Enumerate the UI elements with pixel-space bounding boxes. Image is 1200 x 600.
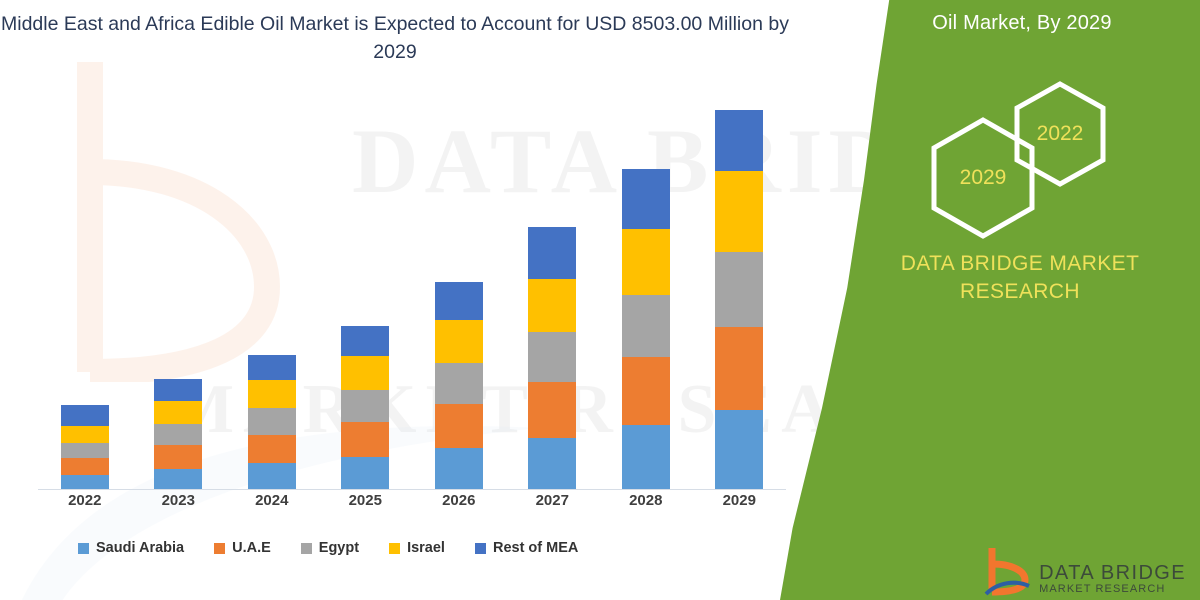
- bar-segment: [154, 445, 202, 468]
- legend-item[interactable]: Saudi Arabia: [78, 540, 184, 556]
- axis-baseline: [38, 489, 786, 490]
- x-axis-tick-label: 2023: [133, 492, 223, 509]
- legend-label: U.A.E: [232, 540, 271, 556]
- legend-item[interactable]: U.A.E: [214, 540, 271, 556]
- bar-column: [414, 282, 504, 489]
- bar-segment: [61, 443, 109, 458]
- x-axis-tick-label: 2027: [507, 492, 597, 509]
- x-axis-tick-label: 2029: [694, 492, 784, 509]
- bar-segment: [715, 171, 763, 252]
- bar-column: [40, 405, 130, 489]
- x-axis-tick-label: 2026: [414, 492, 504, 509]
- chart-area: DATA BRIDGE MARKET RESEARCH Middle East …: [0, 0, 880, 600]
- bar-segment: [154, 424, 202, 445]
- legend-label: Rest of MEA: [493, 540, 578, 556]
- bar-segment: [341, 457, 389, 489]
- bar-segment: [341, 326, 389, 356]
- legend-swatch-icon: [301, 543, 312, 554]
- stacked-bar: [341, 326, 389, 489]
- bar-segment: [248, 435, 296, 464]
- bar-segment: [154, 401, 202, 423]
- bar-segment: [715, 327, 763, 410]
- bar-series-container: [38, 110, 786, 489]
- chart-legend: Saudi ArabiaU.A.EEgyptIsraelRest of MEA: [78, 540, 778, 556]
- bar-segment: [622, 357, 670, 425]
- stacked-bar: [248, 355, 296, 489]
- bar-segment: [248, 408, 296, 435]
- legend-item[interactable]: Israel: [389, 540, 445, 556]
- bar-segment: [61, 475, 109, 489]
- bar-segment: [528, 438, 576, 489]
- bar-column: [320, 326, 410, 489]
- dbmr-logo-line1: DATA BRIDGE: [1039, 563, 1186, 584]
- bar-segment: [61, 426, 109, 443]
- legend-swatch-icon: [78, 543, 89, 554]
- legend-swatch-icon: [389, 543, 400, 554]
- bar-segment: [528, 382, 576, 438]
- brand-line-2: RESEARCH: [840, 278, 1200, 306]
- bar-segment: [435, 363, 483, 404]
- stacked-bar: [61, 405, 109, 489]
- bar-segment: [248, 355, 296, 381]
- dbmr-logo: DATA BRIDGE MARKET RESEARCH: [984, 546, 1186, 596]
- bar-segment: [528, 279, 576, 332]
- x-axis-tick-label: 2024: [227, 492, 317, 509]
- bar-column: [133, 379, 223, 489]
- bar-segment: [435, 448, 483, 489]
- bar-column: [227, 355, 317, 489]
- x-axis-tick-label: 2025: [320, 492, 410, 509]
- legend-label: Egypt: [319, 540, 359, 556]
- legend-label: Saudi Arabia: [96, 540, 184, 556]
- bar-segment: [622, 295, 670, 357]
- bar-segment: [622, 229, 670, 295]
- bar-column: [694, 110, 784, 489]
- bar-segment: [528, 227, 576, 278]
- legend-item[interactable]: Rest of MEA: [475, 540, 578, 556]
- bar-chart: [0, 110, 800, 490]
- bar-column: [601, 169, 691, 489]
- bar-segment: [341, 422, 389, 457]
- bar-segment: [435, 320, 483, 363]
- stacked-bar: [622, 169, 670, 489]
- bar-segment: [248, 380, 296, 408]
- brand-line-1: DATA BRIDGE MARKET: [840, 250, 1200, 278]
- bar-segment: [154, 379, 202, 401]
- page-title: Middle East and Africa Edible Oil Market…: [0, 10, 790, 67]
- hexagon-2022-label: 2022: [1037, 122, 1084, 146]
- bar-segment: [435, 404, 483, 449]
- dbmr-logo-mark-icon: [984, 546, 1030, 596]
- bar-segment: [715, 252, 763, 327]
- bar-segment: [715, 110, 763, 171]
- dbmr-logo-line2: MARKET RESEARCH: [1039, 584, 1186, 596]
- bar-segment: [622, 425, 670, 489]
- bar-segment: [154, 469, 202, 489]
- legend-swatch-icon: [214, 543, 225, 554]
- bar-segment: [341, 390, 389, 422]
- bar-segment: [248, 463, 296, 489]
- legend-label: Israel: [407, 540, 445, 556]
- stacked-bar: [528, 227, 576, 489]
- legend-item[interactable]: Egypt: [301, 540, 359, 556]
- bar-segment: [528, 332, 576, 382]
- bar-segment: [61, 458, 109, 475]
- stacked-bar: [715, 110, 763, 489]
- x-axis-tick-label: 2022: [40, 492, 130, 509]
- stacked-bar: [435, 282, 483, 489]
- bar-segment: [622, 169, 670, 229]
- dbmr-logo-text: DATA BRIDGE MARKET RESEARCH: [1039, 563, 1186, 596]
- hexagon-2029-label: 2029: [960, 166, 1007, 190]
- bar-segment: [435, 282, 483, 320]
- infographic-root: DATA BRIDGE MARKET RESEARCH Middle East …: [0, 0, 1200, 600]
- x-axis-labels: 20222023202420252026202720282029: [38, 492, 786, 509]
- bar-segment: [715, 410, 763, 489]
- bar-segment: [61, 405, 109, 426]
- stacked-bar: [154, 379, 202, 489]
- hexagon-2022: 2022: [1012, 80, 1108, 188]
- bar-column: [507, 227, 597, 489]
- x-axis-tick-label: 2028: [601, 492, 691, 509]
- bar-segment: [341, 356, 389, 390]
- legend-swatch-icon: [475, 543, 486, 554]
